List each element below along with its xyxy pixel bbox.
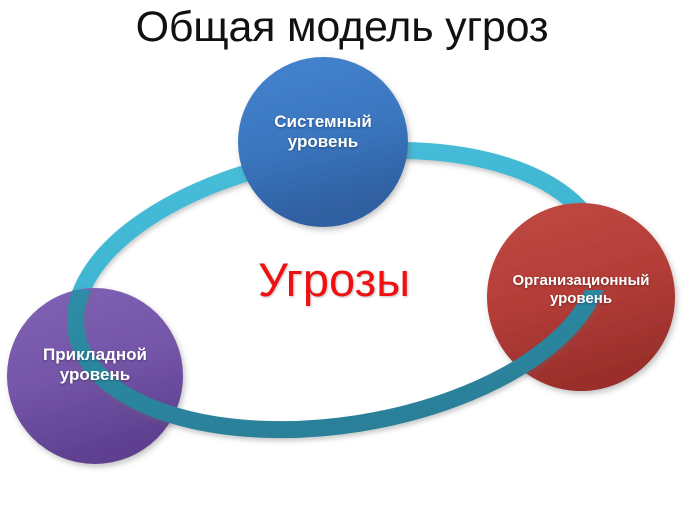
slide-canvas: Общая модель угроз bbox=[0, 0, 684, 522]
node-system[interactable] bbox=[238, 57, 408, 227]
center-label: Угрозы bbox=[196, 252, 472, 308]
